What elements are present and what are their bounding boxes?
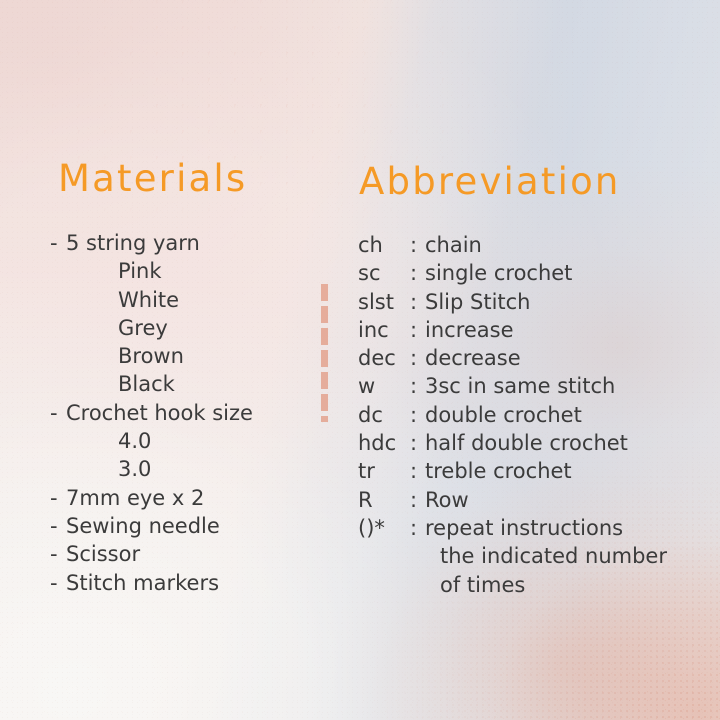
materials-item: Black (50, 370, 253, 398)
abbreviation-key: tr (358, 457, 410, 485)
abbreviation-separator: : (410, 231, 425, 259)
abbreviation-definition: single crochet (425, 259, 572, 287)
materials-item-label: White (118, 288, 179, 312)
materials-item-label: Grey (118, 316, 168, 340)
abbreviation-key: dec (358, 344, 410, 372)
abbreviation-definition: of times (440, 571, 525, 599)
abbreviation-separator: : (410, 344, 425, 372)
materials-item-label: Brown (118, 344, 184, 368)
abbreviation-separator: : (410, 372, 425, 400)
abbreviation-item: ()*:repeat instructions (358, 514, 667, 542)
abbreviation-separator: : (410, 429, 425, 457)
materials-item-label: Crochet hook size (66, 401, 253, 425)
abbreviation-separator: : (410, 514, 425, 542)
abbreviation-item: of times (358, 571, 667, 599)
abbreviation-item: w:3sc in same stitch (358, 372, 667, 400)
abbreviation-separator: : (410, 486, 425, 514)
abbreviation-item: inc:increase (358, 316, 667, 344)
abbreviation-list: ch:chainsc:single crochetslst:Slip Stitc… (358, 231, 667, 599)
materials-heading: Materials (58, 160, 247, 197)
materials-item: -5 string yarn (50, 229, 253, 257)
abbreviation-definition: 3sc in same stitch (425, 372, 615, 400)
abbreviation-definition: the indicated number (440, 542, 667, 570)
materials-item: Brown (50, 342, 253, 370)
abbreviation-item: hdc:half double crochet (358, 429, 667, 457)
materials-item-label: 4.0 (118, 429, 151, 453)
materials-item: -Crochet hook size (50, 399, 253, 427)
abbreviation-definition: repeat instructions (425, 514, 623, 542)
abbreviation-item: dec:decrease (358, 344, 667, 372)
abbreviation-definition: treble crochet (425, 457, 572, 485)
materials-item: Pink (50, 257, 253, 285)
abbreviation-definition: chain (425, 231, 482, 259)
abbreviation-item: R:Row (358, 486, 667, 514)
abbreviation-separator: : (410, 288, 425, 316)
abbreviation-separator: : (410, 316, 425, 344)
abbreviation-key: w (358, 372, 410, 400)
materials-item: White (50, 286, 253, 314)
materials-item: 4.0 (50, 427, 253, 455)
abbreviation-key: dc (358, 401, 410, 429)
abbreviation-key: R (358, 486, 410, 514)
materials-item-label: Stitch markers (66, 571, 219, 595)
abbreviation-definition: decrease (425, 344, 521, 372)
materials-item: Grey (50, 314, 253, 342)
abbreviation-item: sc:single crochet (358, 259, 667, 287)
materials-item: 3.0 (50, 455, 253, 483)
abbreviation-item: tr:treble crochet (358, 457, 667, 485)
abbreviation-definition: Row (425, 486, 469, 514)
abbreviation-item: slst:Slip Stitch (358, 288, 667, 316)
materials-item: -Stitch markers (50, 569, 253, 597)
abbreviation-separator: : (410, 457, 425, 485)
abbreviation-key: ()* (358, 514, 410, 542)
materials-item-label: Pink (118, 259, 162, 283)
abbreviation-separator: : (410, 259, 425, 287)
abbreviation-heading: Abbreviation (359, 163, 621, 200)
materials-item: -7mm eye x 2 (50, 484, 253, 512)
list-bullet: - (50, 569, 66, 597)
abbreviation-definition: increase (425, 316, 514, 344)
abbreviation-key: ch (358, 231, 410, 259)
abbreviation-definition: half double crochet (425, 429, 628, 457)
abbreviation-item: ch:chain (358, 231, 667, 259)
list-bullet: - (50, 229, 66, 257)
materials-item-label: 3.0 (118, 457, 151, 481)
materials-item-label: Sewing needle (66, 514, 220, 538)
column-divider (321, 284, 328, 422)
materials-item-label: Scissor (66, 542, 140, 566)
pattern-info-card: Materials -5 string yarnPinkWhiteGreyBro… (0, 0, 720, 720)
list-bullet: - (50, 512, 66, 540)
list-bullet: - (50, 484, 66, 512)
abbreviation-key: slst (358, 288, 410, 316)
materials-item-label: Black (118, 372, 175, 396)
materials-item: -Sewing needle (50, 512, 253, 540)
abbreviation-definition: double crochet (425, 401, 582, 429)
abbreviation-item: dc:double crochet (358, 401, 667, 429)
abbreviation-key: inc (358, 316, 410, 344)
list-bullet: - (50, 399, 66, 427)
abbreviation-separator: : (410, 401, 425, 429)
abbreviation-definition: Slip Stitch (425, 288, 531, 316)
abbreviation-item: the indicated number (358, 542, 667, 570)
list-bullet: - (50, 540, 66, 568)
materials-list: -5 string yarnPinkWhiteGreyBrownBlack-Cr… (50, 229, 253, 597)
materials-item-label: 5 string yarn (66, 231, 200, 255)
materials-item-label: 7mm eye x 2 (66, 486, 204, 510)
abbreviation-key: hdc (358, 429, 410, 457)
abbreviation-key: sc (358, 259, 410, 287)
materials-item: -Scissor (50, 540, 253, 568)
